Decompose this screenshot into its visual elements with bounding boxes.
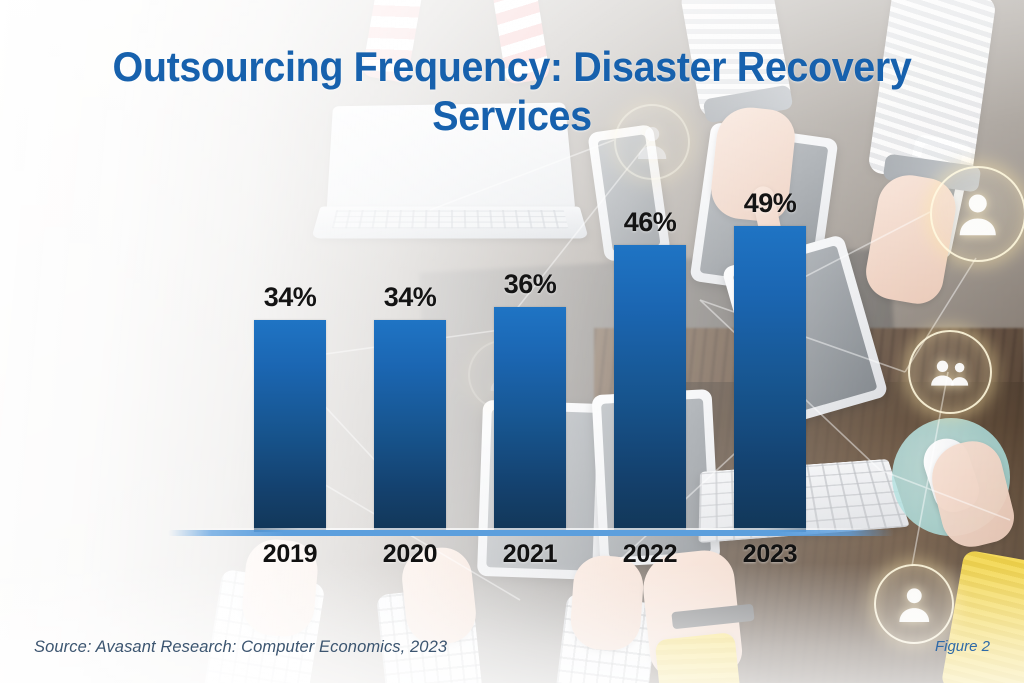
- bar-2021: [494, 307, 566, 532]
- infographic-slide: Outsourcing Frequency: Disaster Recovery…: [0, 0, 1024, 683]
- bar-column-2020: 34%: [374, 170, 446, 532]
- x-tick-2021: 2021: [494, 540, 566, 580]
- bar-column-2019: 34%: [254, 170, 326, 532]
- bar-value-label: 34%: [384, 282, 437, 313]
- bar-column-2022: 46%: [614, 170, 686, 532]
- bar-value-label: 49%: [744, 188, 797, 219]
- x-tick-2023: 2023: [734, 540, 806, 580]
- x-tick-2020: 2020: [374, 540, 446, 580]
- bar-2020: [374, 320, 446, 532]
- x-axis-labels: 2019 2020 2021 2022 2023: [180, 540, 880, 580]
- source-caption: Source: Avasant Research: Computer Econo…: [34, 638, 447, 657]
- bar-2022: [614, 245, 686, 532]
- bar-chart: 34% 34% 36% 46% 49%: [180, 170, 880, 532]
- bar-series: 34% 34% 36% 46% 49%: [180, 170, 880, 532]
- x-tick-2022: 2022: [614, 540, 686, 580]
- bar-value-label: 46%: [624, 207, 677, 238]
- figure-caption: Figure 2: [935, 638, 990, 655]
- axis-baseline: [168, 530, 894, 536]
- bar-2023: [734, 226, 806, 532]
- bar-column-2023: 49%: [734, 170, 806, 532]
- bar-2019: [254, 320, 326, 532]
- x-tick-2019: 2019: [254, 540, 326, 580]
- bar-column-2021: 36%: [494, 170, 566, 532]
- bar-value-label: 34%: [264, 282, 317, 313]
- page-title: Outsourcing Frequency: Disaster Recovery…: [83, 42, 940, 140]
- bar-value-label: 36%: [504, 269, 557, 300]
